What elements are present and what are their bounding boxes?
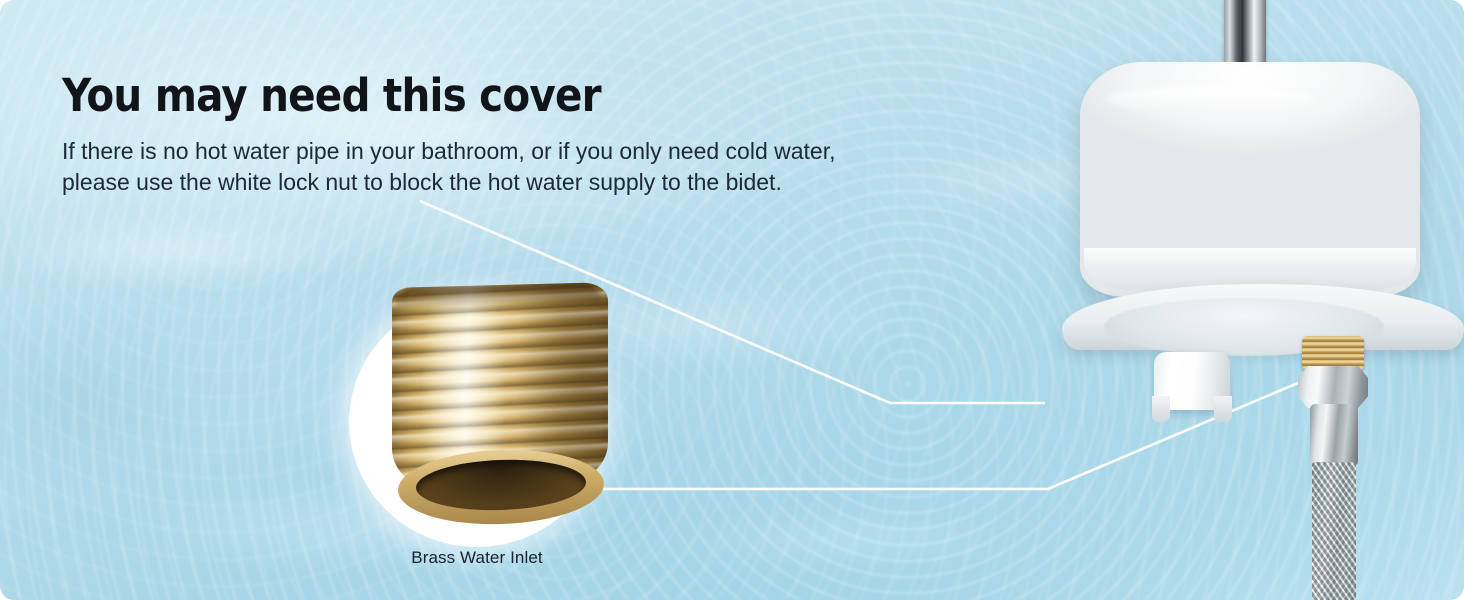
white-lock-nut-tab-left <box>1152 396 1170 422</box>
chrome-stem <box>1224 0 1266 70</box>
page-title: You may need this cover <box>62 72 992 120</box>
brass-water-inlet-image <box>392 285 608 490</box>
hose-ferrule <box>1310 404 1358 466</box>
body-copy-line-2: please use the white lock nut to block t… <box>62 167 992 198</box>
body-copy: If there is no hot water pipe in your ba… <box>62 136 992 198</box>
brass-threaded-fitting <box>1302 336 1364 370</box>
white-lock-nut-tab-right <box>1214 396 1232 422</box>
braided-steel-hose <box>1312 462 1356 600</box>
chrome-hex-nut <box>1298 366 1368 408</box>
body-copy-line-1: If there is no hot water pipe in your ba… <box>62 136 992 167</box>
valve-cover-highlight <box>1106 86 1316 114</box>
copy-block: You may need this cover If there is no h… <box>62 72 992 197</box>
product-photo <box>1044 0 1464 600</box>
promo-banner: You may need this cover If there is no h… <box>0 0 1464 600</box>
inset-caption: Brass Water Inlet <box>349 548 605 568</box>
